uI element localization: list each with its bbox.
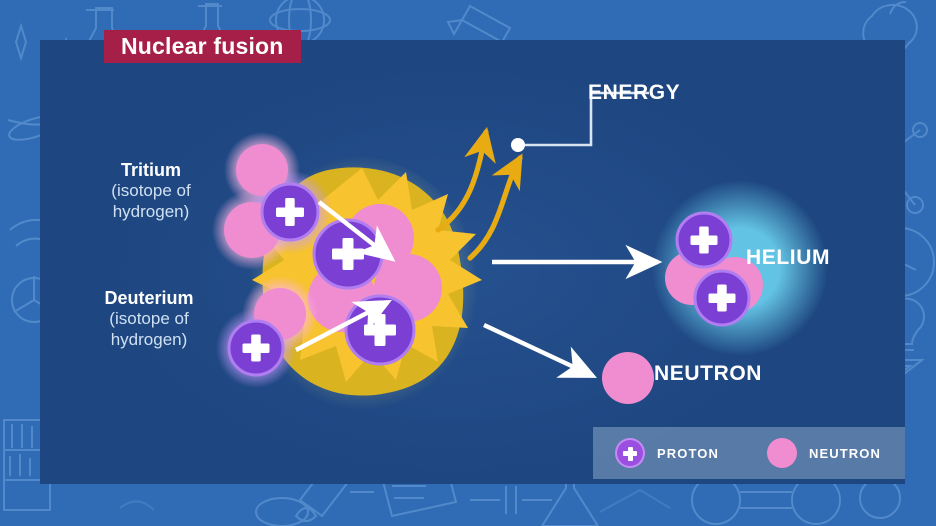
helium-proton-1 — [677, 213, 731, 267]
neutron-circle-icon — [767, 438, 797, 468]
tritium-sub-2: hydrogen) — [88, 202, 214, 223]
label-helium: HELIUM — [746, 246, 830, 270]
legend: PROTON NEUTRON — [593, 427, 905, 479]
legend-item-neutron: NEUTRON — [767, 438, 881, 468]
tritium-sub-1: (isotope of — [88, 181, 214, 202]
deuterium-proton — [229, 321, 283, 375]
free-neutron — [602, 352, 654, 404]
tritium-name: Tritium — [88, 160, 214, 181]
label-energy: ENERGY — [588, 81, 680, 105]
legend-item-proton: PROTON — [615, 438, 719, 468]
deuterium-sub-1: (isotope of — [80, 309, 218, 330]
deuterium-sub-2: hydrogen) — [80, 330, 218, 351]
legend-proton-label: PROTON — [657, 446, 719, 461]
title-banner: Nuclear fusion — [104, 30, 301, 63]
label-tritium: Tritium (isotope of hydrogen) — [88, 160, 214, 222]
legend-neutron-label: NEUTRON — [809, 446, 881, 461]
label-neutron: NEUTRON — [654, 362, 762, 386]
tritium-proton — [262, 184, 318, 240]
proton-circle-icon — [615, 438, 645, 468]
arrow-core-to-neutron — [484, 325, 593, 376]
helium-proton-2 — [695, 271, 749, 325]
label-deuterium: Deuterium (isotope of hydrogen) — [80, 288, 218, 350]
page-title: Nuclear fusion — [121, 33, 284, 60]
deuterium-name: Deuterium — [80, 288, 218, 309]
